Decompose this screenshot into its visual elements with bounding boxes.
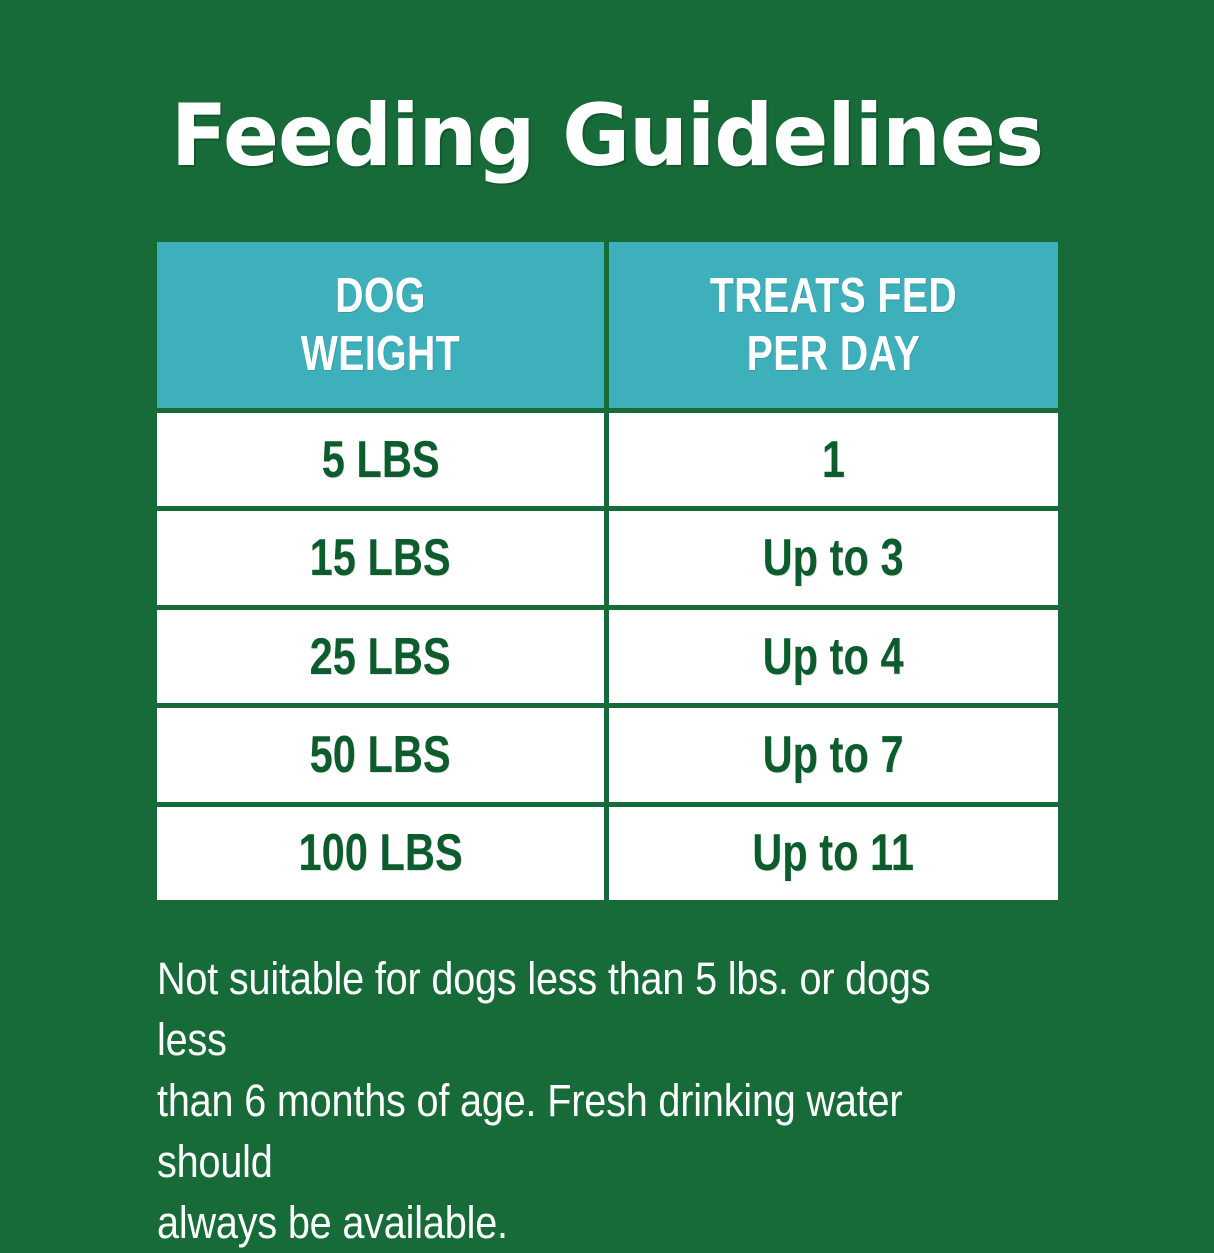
table-row: 5 LBS 1	[157, 413, 1058, 506]
cell-treats-per-day: Up to 3	[609, 511, 1058, 604]
table-header-row: DOG WEIGHT TREATS FED PER DAY	[157, 242, 1058, 408]
page-title: Feeding Guidelines	[24, 88, 1189, 184]
footnote-line-1: Not suitable for dogs less than 5 lbs. o…	[157, 948, 967, 1070]
cell-dog-weight: 50 LBS	[157, 708, 604, 801]
cell-dog-weight: 25 LBS	[157, 610, 604, 703]
cell-treats-per-day: Up to 11	[609, 807, 1058, 900]
cell-treats-per-day-value: Up to 4	[763, 627, 904, 687]
column-header-treats-fed-per-day-label: TREATS FED PER DAY	[710, 267, 957, 383]
feeding-guidelines-table: DOG WEIGHT TREATS FED PER DAY 5 LBS 1 15…	[157, 242, 1058, 900]
cell-treats-per-day: 1	[609, 413, 1058, 506]
cell-treats-per-day-value: 1	[822, 430, 845, 490]
cell-dog-weight: 5 LBS	[157, 413, 604, 506]
cell-dog-weight-value: 50 LBS	[310, 725, 451, 785]
cell-treats-per-day-value: Up to 11	[753, 823, 915, 883]
table-row: 15 LBS Up to 3	[157, 511, 1058, 604]
column-header-dog-weight-label: DOG WEIGHT	[301, 267, 460, 383]
table-row: 50 LBS Up to 7	[157, 708, 1058, 801]
table-row: 100 LBS Up to 11	[157, 807, 1058, 900]
cell-dog-weight: 100 LBS	[157, 807, 604, 900]
cell-treats-per-day: Up to 4	[609, 610, 1058, 703]
cell-treats-per-day: Up to 7	[609, 708, 1058, 801]
footnote-line-3: always be available.	[157, 1192, 967, 1253]
feeding-footnote: Not suitable for dogs less than 5 lbs. o…	[157, 948, 1077, 1253]
cell-treats-per-day-value: Up to 7	[763, 725, 904, 785]
footnote-line-2: than 6 months of age. Fresh drinking wat…	[157, 1070, 967, 1192]
cell-treats-per-day-value: Up to 3	[763, 528, 904, 588]
cell-dog-weight: 15 LBS	[157, 511, 604, 604]
cell-dog-weight-value: 25 LBS	[310, 627, 451, 687]
column-header-treats-fed-per-day: TREATS FED PER DAY	[609, 242, 1058, 408]
cell-dog-weight-value: 5 LBS	[322, 430, 440, 490]
cell-dog-weight-value: 15 LBS	[310, 528, 451, 588]
table-row: 25 LBS Up to 4	[157, 610, 1058, 703]
column-header-dog-weight: DOG WEIGHT	[157, 242, 604, 408]
cell-dog-weight-value: 100 LBS	[298, 823, 462, 883]
feeding-guidelines-panel: Feeding Guidelines DOG WEIGHT TREATS FED…	[0, 0, 1214, 1214]
